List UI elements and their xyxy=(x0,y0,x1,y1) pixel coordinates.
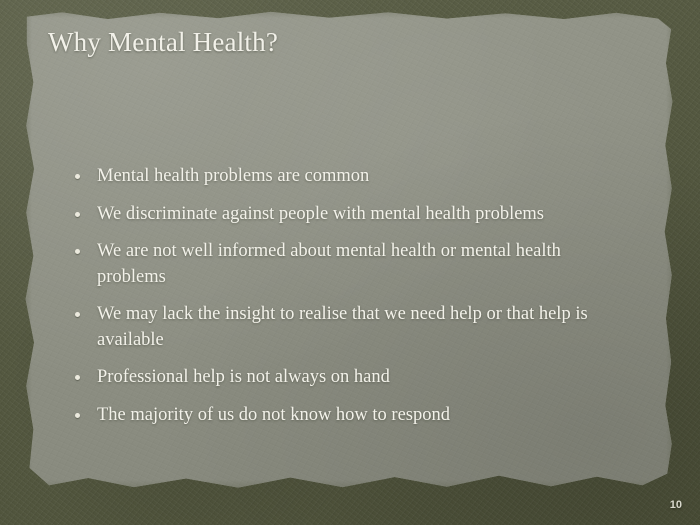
page-title: Why Mental Health? xyxy=(48,28,278,58)
list-item-label: Professional help is not always on hand xyxy=(97,367,390,387)
bullet-list: Mental health problems are common We dis… xyxy=(70,164,630,428)
slide-number: 10 xyxy=(670,499,682,511)
bullet-dot-icon xyxy=(75,174,80,179)
presentation-slide: Why Mental Health? Mental health problem… xyxy=(0,0,700,525)
bullet-dot-icon xyxy=(75,212,80,217)
list-item: Mental health problems are common xyxy=(70,164,630,190)
list-item: Professional help is not always on hand xyxy=(70,365,630,391)
list-item: We may lack the insight to realise that … xyxy=(70,302,630,353)
list-item-label: Mental health problems are common xyxy=(97,166,369,186)
bullet-dot-icon xyxy=(75,312,80,317)
list-item: The majority of us do not know how to re… xyxy=(70,403,630,429)
list-item-label: The majority of us do not know how to re… xyxy=(97,405,450,425)
bullet-dot-icon xyxy=(75,249,80,254)
list-item-label: We are not well informed about mental he… xyxy=(97,241,561,287)
list-item: We discriminate against people with ment… xyxy=(70,202,630,228)
list-item: We are not well informed about mental he… xyxy=(70,239,630,290)
bullet-dot-icon xyxy=(75,413,80,418)
list-item-label: We discriminate against people with ment… xyxy=(97,204,544,224)
list-item-label: We may lack the insight to realise that … xyxy=(97,304,588,350)
bullet-dot-icon xyxy=(75,375,80,380)
